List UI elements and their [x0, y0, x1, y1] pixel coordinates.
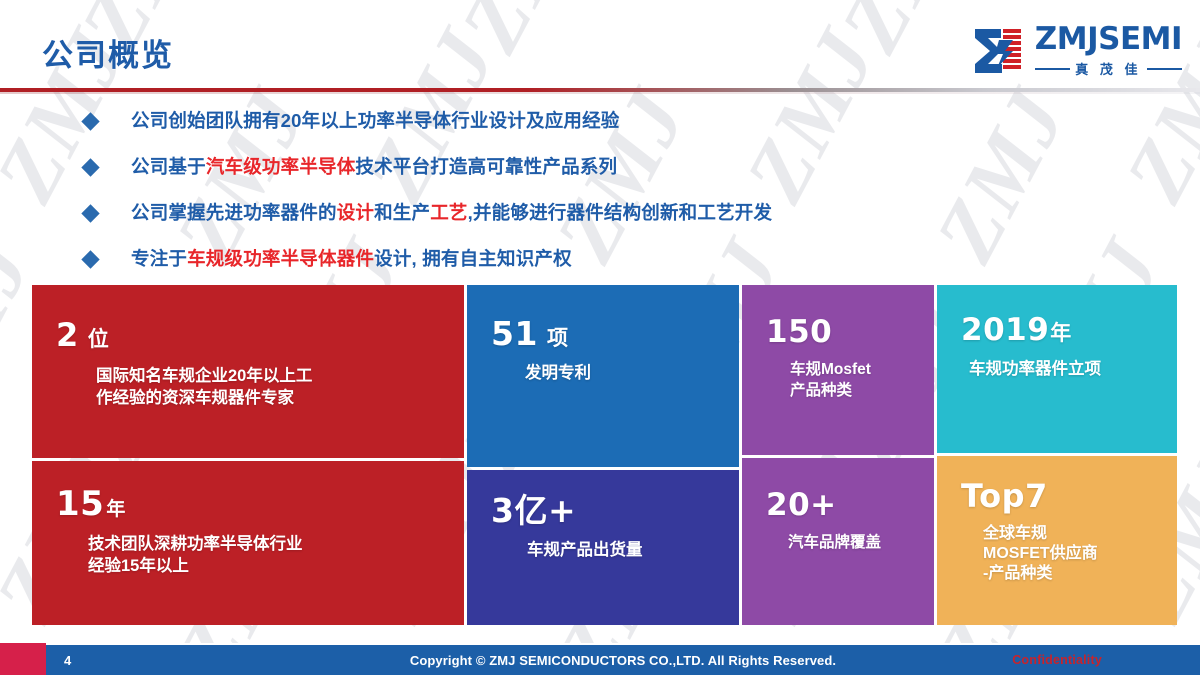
- logo-subtitle-row: 真 茂 佳: [1035, 59, 1182, 78]
- bullet-item-2: 公司基于汽车级功率半导体技术平台打造高可靠性产品系列: [0, 154, 1200, 200]
- bullet-text: 公司基于汽车级功率半导体技术平台打造高可靠性产品系列: [131, 154, 617, 181]
- bullet-item-1: 公司创始团队拥有20年以上功率半导体行业设计及应用经验: [0, 108, 1200, 154]
- stat-number: 2019: [961, 315, 1049, 346]
- stat-card-mosfet-types: 150 车规Mosfet 产品种类: [742, 285, 934, 455]
- stat-number: 150: [766, 317, 832, 348]
- stat-column-red: 2 位 国际知名车规企业20年以上工 作经验的资深车规器件专家 15 年 技术团…: [32, 285, 464, 625]
- stat-number: Top7: [961, 480, 1048, 512]
- stat-card-project-year: 2019 年 车规功率器件立项: [937, 285, 1177, 453]
- logo-wordmark: ZMJSEMI: [1035, 24, 1182, 55]
- stat-unit: 位: [88, 329, 109, 350]
- bullet-text: 公司创始团队拥有20年以上功率半导体行业设计及应用经验: [131, 108, 620, 135]
- company-logo: ZMJSEMI 真 茂 佳: [971, 20, 1182, 82]
- bullet-diamond-icon: [81, 204, 99, 222]
- bullet-list: 公司创始团队拥有20年以上功率半导体行业设计及应用经验公司基于汽车级功率半导体技…: [0, 108, 1200, 292]
- stat-column-blue: 51 项 发明专利 3亿+ 车规产品出货量: [467, 285, 739, 625]
- footer-bar: 4 Copyright © ZMJ SEMICONDUCTORS CO.,LTD…: [46, 643, 1200, 675]
- bullet-item-3: 公司掌握先进功率器件的设计和生产工艺,并能够进行器件结构创新和工艺开发: [0, 200, 1200, 246]
- stat-number: 15: [56, 487, 104, 521]
- stat-description: 车规功率器件立项: [969, 358, 1153, 380]
- stat-unit: 项: [547, 328, 568, 349]
- stat-column-right: 2019 年 车规功率器件立项 Top7 全球车规 MOSFET供应商 -产品种…: [937, 285, 1177, 625]
- bullet-diamond-icon: [81, 250, 99, 268]
- bullet-text: 公司掌握先进功率器件的设计和生产工艺,并能够进行器件结构创新和工艺开发: [131, 200, 772, 227]
- page-title: 公司概览: [42, 30, 174, 75]
- stat-card-grid: 2 位 国际知名车规企业20年以上工 作经验的资深车规器件专家 15 年 技术团…: [32, 285, 1178, 625]
- stat-headline: 15 年: [56, 487, 440, 521]
- logo-rule-left: [1035, 68, 1071, 70]
- logo-rule-right: [1147, 68, 1183, 70]
- stat-unit: 年: [106, 500, 125, 519]
- stat-headline: Top7: [961, 480, 1153, 512]
- stat-description: 发明专利: [525, 362, 715, 384]
- stat-headline: 150: [766, 317, 910, 348]
- stat-description: 技术团队深耕功率半导体行业 经验15年以上: [88, 533, 440, 578]
- stat-card-shipments: 3亿+ 车规产品出货量: [467, 470, 739, 625]
- stat-description: 汽车品牌覆盖: [788, 533, 910, 554]
- confidentiality-label: Confidentiality: [1012, 653, 1102, 667]
- stat-description: 全球车规 MOSFET供应商 -产品种类: [983, 524, 1153, 584]
- stat-card-brand-coverage: 20+ 汽车品牌覆盖: [742, 458, 934, 625]
- bullet-text: 专注于车规级功率半导体器件设计, 拥有自主知识产权: [131, 246, 572, 273]
- stat-number: 3亿+: [491, 494, 576, 527]
- stat-headline: 2019 年: [961, 315, 1153, 346]
- stat-headline: 2 位: [56, 319, 440, 351]
- stat-description: 车规产品出货量: [527, 539, 715, 561]
- stat-number: 2: [56, 319, 79, 351]
- stat-card-team-years: 15 年 技术团队深耕功率半导体行业 经验15年以上: [32, 461, 464, 626]
- footer-accent-block: [0, 643, 46, 675]
- stat-description: 国际知名车规企业20年以上工 作经验的资深车规器件专家: [96, 365, 440, 410]
- bullet-diamond-icon: [81, 158, 99, 176]
- title-divider-shadow: [0, 92, 1200, 94]
- stat-unit: 年: [1050, 323, 1071, 344]
- logo-subtitle: 真 茂 佳: [1075, 59, 1141, 78]
- stat-headline: 20+: [766, 490, 910, 521]
- stat-number: 20+: [766, 490, 837, 521]
- logo-text: ZMJSEMI 真 茂 佳: [1035, 24, 1182, 78]
- stat-number: 51: [491, 317, 538, 350]
- stat-description: 车规Mosfet 产品种类: [790, 360, 910, 402]
- stat-headline: 51 项: [491, 317, 715, 350]
- bullet-diamond-icon: [81, 112, 99, 130]
- stat-card-global-rank: Top7 全球车规 MOSFET供应商 -产品种类: [937, 456, 1177, 625]
- slide: ZMJZMJZMJZMJZMJZMJZMJZMJZMJZMJZMJZMJZMJZ…: [0, 0, 1200, 675]
- slide-footer: 4 Copyright © ZMJ SEMICONDUCTORS CO.,LTD…: [0, 643, 1200, 675]
- stat-headline: 3亿+: [491, 494, 715, 527]
- stat-column-purple: 150 车规Mosfet 产品种类 20+ 汽车品牌覆盖: [742, 285, 934, 625]
- logo-mark-icon: [971, 24, 1025, 78]
- stat-card-patents: 51 项 发明专利: [467, 285, 739, 467]
- stat-card-experts: 2 位 国际知名车规企业20年以上工 作经验的资深车规器件专家: [32, 285, 464, 458]
